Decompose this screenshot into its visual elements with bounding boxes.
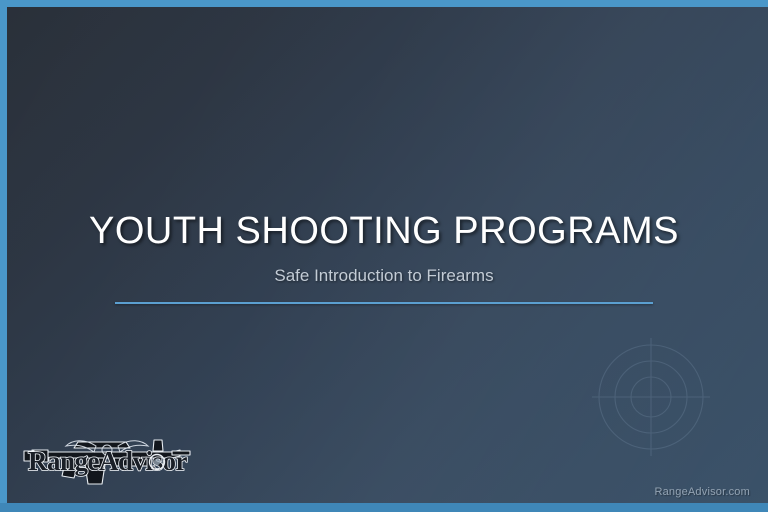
title-slide: YOUTH SHOOTING PROGRAMS Safe Introductio… bbox=[0, 0, 768, 512]
rangeadvisor-rifle-logo-icon: RangeAdvisor bbox=[22, 426, 194, 492]
page-subtitle: Safe Introduction to Firearms bbox=[0, 266, 768, 286]
top-accent-bar bbox=[0, 0, 768, 7]
title-accent-rule bbox=[115, 302, 653, 304]
page-title: YOUTH SHOOTING PROGRAMS bbox=[0, 212, 768, 252]
footer-url: RangeAdvisor.com bbox=[654, 486, 750, 498]
bottom-accent-bar bbox=[0, 503, 768, 512]
logo-wordmark-text: RangeAdvisor bbox=[28, 446, 188, 476]
title-block: YOUTH SHOOTING PROGRAMS Safe Introductio… bbox=[0, 212, 768, 304]
